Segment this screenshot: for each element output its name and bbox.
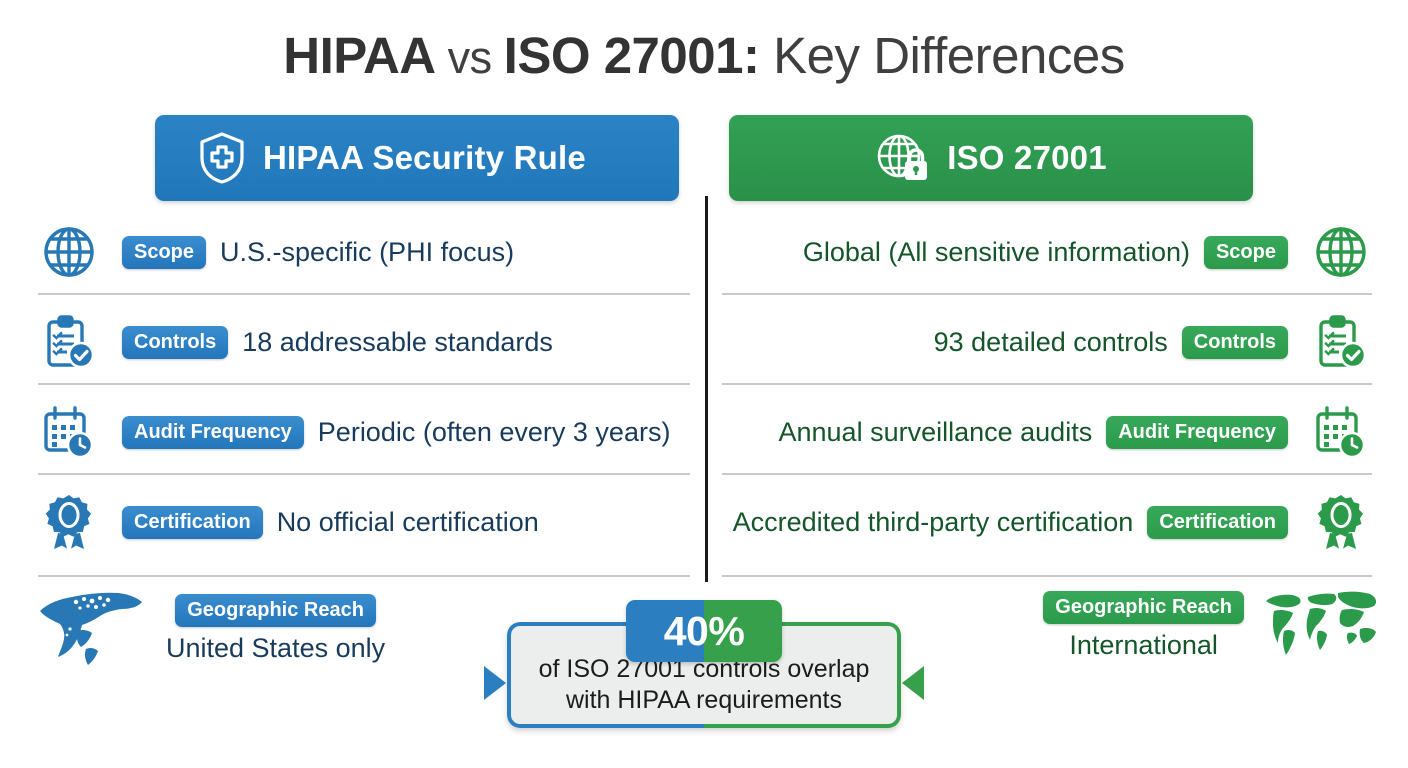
column-header-hipaa: HIPAA Security Rule	[155, 115, 679, 201]
badge-geographic-reach-hipaa: Geographic Reach	[175, 594, 376, 627]
globe-icon	[38, 221, 100, 283]
geographic-reach-iso-stack: Geographic Reach International	[1043, 591, 1244, 661]
overlap-callout: of ISO 27001 controls overlap with HIPAA…	[470, 600, 938, 750]
value-audit-frequency-iso: Annual surveillance audits	[779, 417, 1093, 448]
award-ribbon-icon	[38, 491, 100, 553]
geographic-reach-hipaa: Geographic Reach United States only	[30, 585, 385, 672]
row-scope-iso: Global (All sensitive information) Scope	[720, 207, 1372, 297]
badge-geographic-reach-iso: Geographic Reach	[1043, 591, 1244, 624]
geographic-reach-hipaa-stack: Geographic Reach United States only	[166, 594, 385, 664]
value-audit-frequency-hipaa: Periodic (often every 3 years)	[318, 417, 671, 448]
page-title: HIPAA vs ISO 27001: Key Differences	[0, 26, 1408, 85]
row-audit-frequency-hipaa: Audit Frequency Periodic (often every 3 …	[38, 387, 690, 477]
row-divider	[38, 473, 690, 475]
badge-certification-iso: Certification	[1147, 506, 1288, 539]
world-map-icon	[1260, 585, 1382, 666]
badge-audit-frequency-iso: Audit Frequency	[1106, 416, 1288, 449]
value-certification-hipaa: No official certification	[277, 507, 539, 538]
badge-controls-hipaa: Controls	[122, 326, 228, 359]
badge-scope-iso: Scope	[1204, 236, 1288, 269]
calendar-clock-icon	[1310, 401, 1372, 463]
clipboard-check-icon	[1310, 311, 1372, 373]
row-divider	[722, 293, 1372, 295]
row-divider	[38, 293, 690, 295]
globe-icon	[1310, 221, 1372, 283]
row-divider	[38, 575, 690, 577]
row-scope-hipaa: Scope U.S.-specific (PHI focus)	[38, 207, 690, 297]
clipboard-check-icon	[38, 311, 100, 373]
value-geographic-reach-hipaa: United States only	[166, 633, 385, 664]
row-audit-frequency-iso: Annual surveillance audits Audit Frequen…	[720, 387, 1372, 477]
award-ribbon-icon	[1310, 491, 1372, 553]
geographic-reach-iso: Geographic Reach International	[1043, 585, 1382, 666]
value-scope-iso: Global (All sensitive information)	[803, 237, 1190, 268]
callout-percent-badge: 40%	[626, 600, 782, 662]
callout-arrow-left-icon	[484, 666, 506, 700]
badge-audit-frequency-hipaa: Audit Frequency	[122, 416, 304, 449]
value-geographic-reach-iso: International	[1069, 630, 1218, 661]
row-divider	[38, 383, 690, 385]
globe-lock-icon	[875, 131, 931, 185]
badge-controls-iso: Controls	[1182, 326, 1288, 359]
row-certification-iso: Accredited third-party certification Cer…	[720, 477, 1372, 567]
title-part-vs: vs	[436, 32, 504, 83]
title-part-iso: ISO 27001:	[504, 27, 760, 84]
row-divider	[722, 473, 1372, 475]
shield-medical-cross-icon	[197, 131, 247, 185]
callout-percent-value: 40%	[626, 600, 782, 662]
callout-text: of ISO 27001 controls overlap with HIPAA…	[507, 654, 901, 715]
value-controls-iso: 93 detailed controls	[934, 327, 1168, 358]
column-header-iso: ISO 27001	[729, 115, 1253, 201]
infographic-canvas: HIPAA vs ISO 27001: Key Differences HIPA…	[0, 0, 1408, 768]
title-part-hipaa: HIPAA	[283, 27, 435, 84]
title-part-subject: Key Differences	[760, 27, 1125, 84]
center-divider	[705, 196, 708, 582]
row-divider	[722, 383, 1372, 385]
column-header-hipaa-label: HIPAA Security Rule	[263, 139, 586, 177]
callout-arrow-right-icon	[902, 666, 924, 700]
column-header-iso-label: ISO 27001	[947, 139, 1107, 177]
value-certification-iso: Accredited third-party certification	[733, 507, 1134, 538]
row-controls-hipaa: Controls 18 addressable standards	[38, 297, 690, 387]
row-controls-iso: 93 detailed controls Controls	[720, 297, 1372, 387]
row-certification-hipaa: Certification No official certification	[38, 477, 690, 567]
value-scope-hipaa: U.S.-specific (PHI focus)	[220, 237, 514, 268]
calendar-clock-icon	[38, 401, 100, 463]
value-controls-hipaa: 18 addressable standards	[242, 327, 553, 358]
row-divider	[722, 575, 1372, 577]
badge-scope-hipaa: Scope	[122, 236, 206, 269]
north-america-map-icon	[30, 585, 148, 672]
badge-certification-hipaa: Certification	[122, 506, 263, 539]
callout-line-2: with HIPAA requirements	[507, 685, 901, 716]
